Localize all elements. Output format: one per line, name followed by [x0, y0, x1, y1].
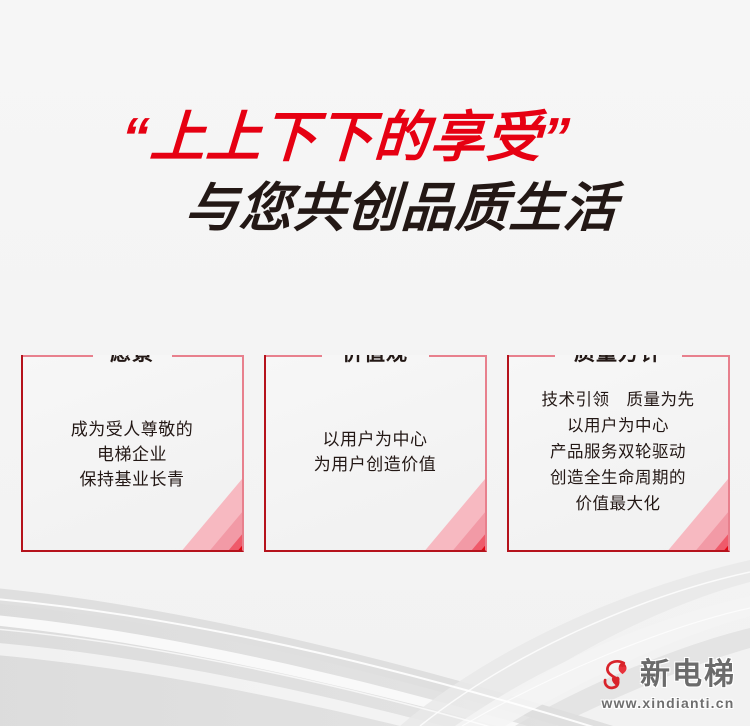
watermark-url: www.xindianti.cn — [601, 694, 734, 712]
watermark: 新电梯 www.xindianti.cn — [600, 657, 736, 712]
poster-canvas: “上上下下的享受” 与您共创品质生活 愿景 成为受人尊敬的 电梯企业 保持基业长… — [0, 0, 750, 726]
value-cards-row: 愿景 成为受人尊敬的 电梯企业 保持基业长青 价值观 以用户为中心 为用户创造价… — [0, 355, 750, 560]
headline-line-1: “上上下下的享受” — [0, 104, 750, 170]
card-title-quality-policy: 质量方针 — [509, 355, 728, 369]
watermark-brand-name: 新电梯 — [640, 658, 736, 692]
card-corner-stripe-accent — [642, 464, 728, 550]
card-quality-policy: 质量方针 技术引领 质量为先 以用户为中心 产品服务双轮驱动 创造全生命周期的 … — [507, 355, 730, 552]
xindianti-logo-icon — [600, 657, 634, 693]
card-corner-stripe-accent — [399, 464, 485, 550]
card-body-line: 产品服务双轮驱动 — [509, 439, 728, 465]
card-title-vision: 愿景 — [23, 355, 242, 369]
headline: “上上下下的享受” 与您共创品质生活 — [0, 104, 750, 242]
card-corner-stripe-accent — [156, 464, 242, 550]
card-values: 价值观 以用户为中心 为用户创造价值 — [264, 355, 487, 552]
card-title-values: 价值观 — [266, 355, 485, 369]
card-vision: 愿景 成为受人尊敬的 电梯企业 保持基业长青 — [21, 355, 244, 552]
card-body-line: 成为受人尊敬的 — [23, 417, 242, 442]
headline-line-2: 与您共创品质生活 — [50, 176, 750, 242]
card-body-line: 技术引领 质量为先 — [509, 387, 728, 413]
watermark-brand-row: 新电梯 — [600, 657, 736, 693]
card-body-line: 以用户为中心 — [266, 427, 485, 452]
card-body-line: 以用户为中心 — [509, 413, 728, 439]
